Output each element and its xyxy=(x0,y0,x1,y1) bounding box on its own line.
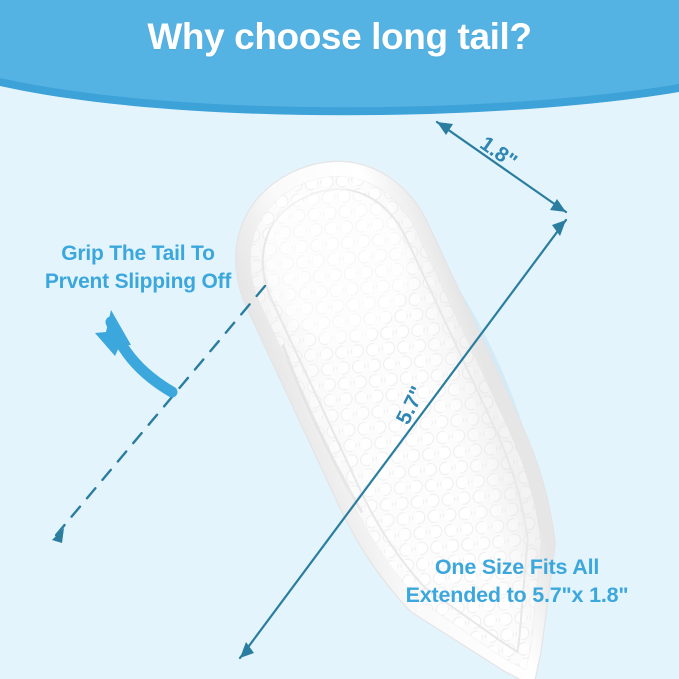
product-infographic: Why choose long tail? xyxy=(0,0,679,679)
grip-tail-note-line1: Grip The Tail To xyxy=(8,240,268,268)
insole-top-highlight xyxy=(240,164,433,365)
header-banner: Why choose long tail? xyxy=(0,0,679,120)
size-note: One Size Fits All Extended to 5.7"x 1.8" xyxy=(372,553,662,610)
tail-guide-dashed-line xyxy=(52,286,265,543)
grip-tail-note-line2: Prvent Slipping Off xyxy=(8,268,268,296)
size-note-line1: One Size Fits All xyxy=(372,553,662,581)
page-title: Why choose long tail? xyxy=(0,14,679,60)
insole-left-crease xyxy=(280,344,362,514)
grip-tail-arrow-icon xyxy=(95,310,172,392)
width-dimension-label: 1.8" xyxy=(475,132,521,174)
length-dimension-label: 5.7" xyxy=(392,383,431,429)
grip-tail-note: Grip The Tail To Prvent Slipping Off xyxy=(8,240,268,295)
size-note-line2: Extended to 5.7"x 1.8" xyxy=(372,581,662,609)
